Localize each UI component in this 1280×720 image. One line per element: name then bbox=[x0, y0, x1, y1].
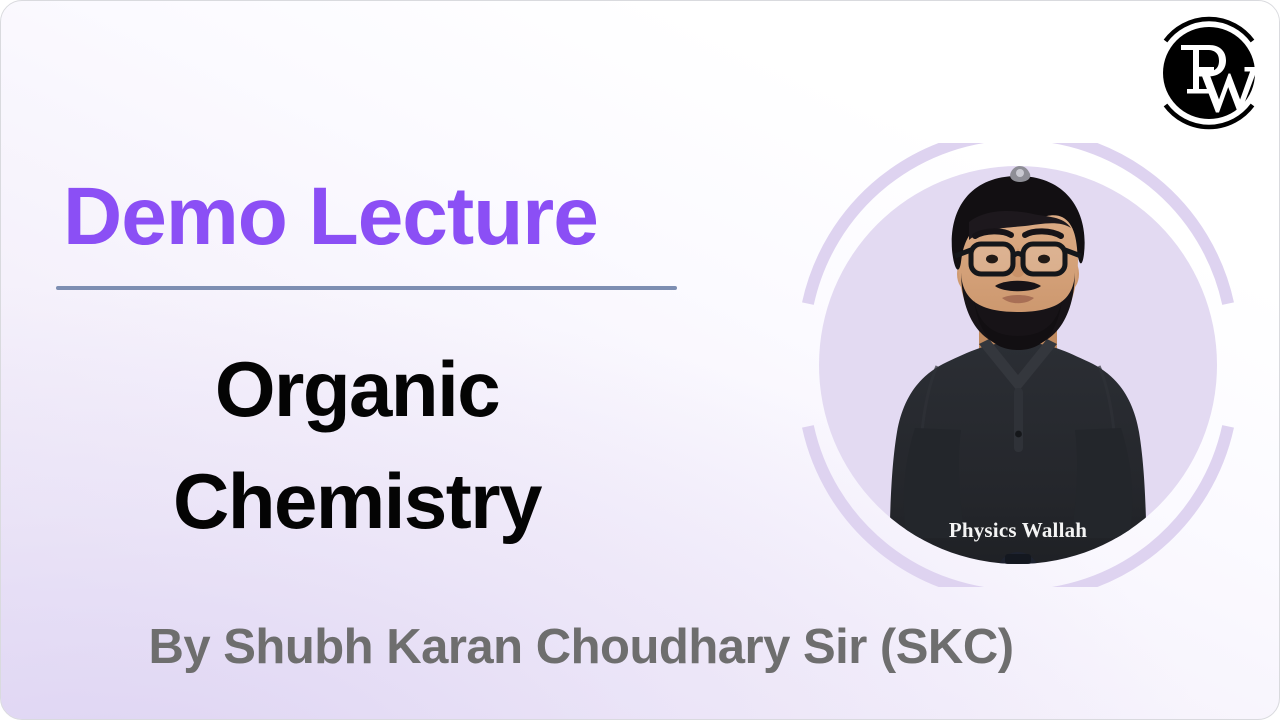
subject-line-2: Chemistry bbox=[1, 445, 713, 557]
title-divider bbox=[56, 286, 677, 290]
instructor-figure: Physics Wallah bbox=[819, 166, 1217, 564]
slide-canvas: Demo Lecture Organic Chemistry bbox=[0, 0, 1280, 720]
subject-title: Organic Chemistry bbox=[1, 333, 713, 557]
page-title: Demo Lecture bbox=[63, 171, 598, 263]
instructor-portrait: Physics Wallah bbox=[796, 143, 1240, 587]
portrait-photo: Physics Wallah bbox=[819, 166, 1217, 564]
presenter-byline: By Shubh Karan Choudhary Sir (SKC) bbox=[1, 613, 1161, 681]
subject-line-1: Organic bbox=[1, 333, 713, 445]
physics-wallah-logo bbox=[1147, 11, 1271, 135]
